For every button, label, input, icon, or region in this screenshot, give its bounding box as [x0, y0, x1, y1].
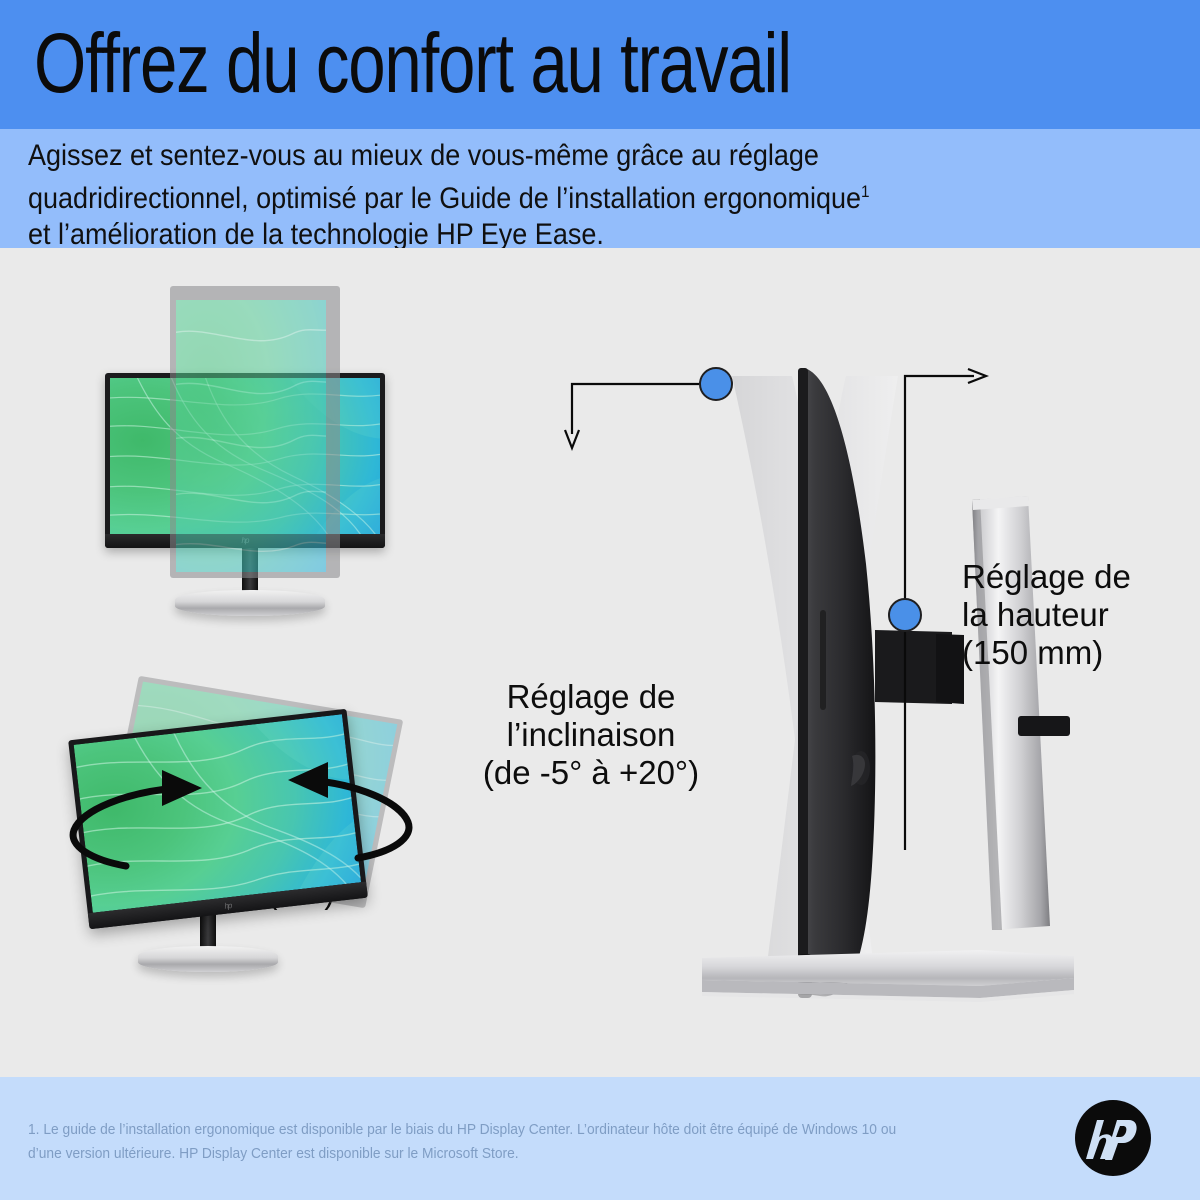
callout-tilt: Réglage de l’inclinaison (de -5° à +20°)	[461, 678, 721, 792]
page-title: Offrez du confort au travail	[34, 8, 791, 118]
monitor-rotation-icon: hp	[80, 278, 420, 678]
wallpaper	[74, 714, 361, 912]
stand-base-plate	[702, 950, 1074, 1002]
monitor-portrait-ghost	[170, 286, 340, 578]
arrowhead-down	[565, 430, 579, 448]
illustration-area: hp	[0, 248, 1200, 1077]
hinge-bracket	[875, 630, 964, 704]
callout-dot-height	[888, 598, 922, 632]
callout-height-line-2: la hauteur	[962, 596, 1192, 634]
subtitle-text: Agissez et sentez-vous au mieux de vous-…	[28, 138, 1063, 253]
cable-clip	[1018, 716, 1070, 736]
callout-tilt-line-2: l’inclinaison	[461, 716, 721, 754]
infographic-page: Offrez du confort au travail Agissez et …	[0, 0, 1200, 1200]
subtitle-line-1: Agissez et sentez-vous au mieux de vous-…	[28, 139, 819, 172]
footnote-text: 1. Le guide de l’installation ergonomiqu…	[28, 1118, 930, 1166]
monitor-screen	[176, 300, 326, 572]
wallpaper	[176, 300, 326, 572]
port-slot	[820, 610, 826, 710]
callout-height-line-1: Réglage de	[962, 558, 1192, 596]
callout-height-line-3: (150 mm)	[962, 634, 1192, 672]
monitor-side-view-icon	[680, 338, 1100, 1058]
subtitle-line-2: quadridirectionnel, optimisé par le Guid…	[28, 182, 861, 215]
callout-tilt-line-3: (de -5° à +20°)	[461, 754, 721, 792]
monitor-pivot-icon: hp	[40, 688, 440, 988]
callout-height: Réglage de la hauteur (150 mm)	[962, 558, 1192, 672]
hp-chin-logo-icon: hp	[224, 901, 232, 911]
hp-logo	[1073, 1098, 1153, 1178]
stand-base	[175, 590, 325, 616]
subtitle-line-3: et l’amélioration de la technologie HP E…	[28, 218, 604, 251]
stand-base	[138, 946, 278, 972]
monitor-screen	[74, 714, 361, 912]
footnote-marker: 1	[861, 182, 870, 201]
monitor-front: hp	[78, 724, 358, 914]
callout-dot-tilt	[699, 367, 733, 401]
callout-tilt-line-1: Réglage de	[461, 678, 721, 716]
